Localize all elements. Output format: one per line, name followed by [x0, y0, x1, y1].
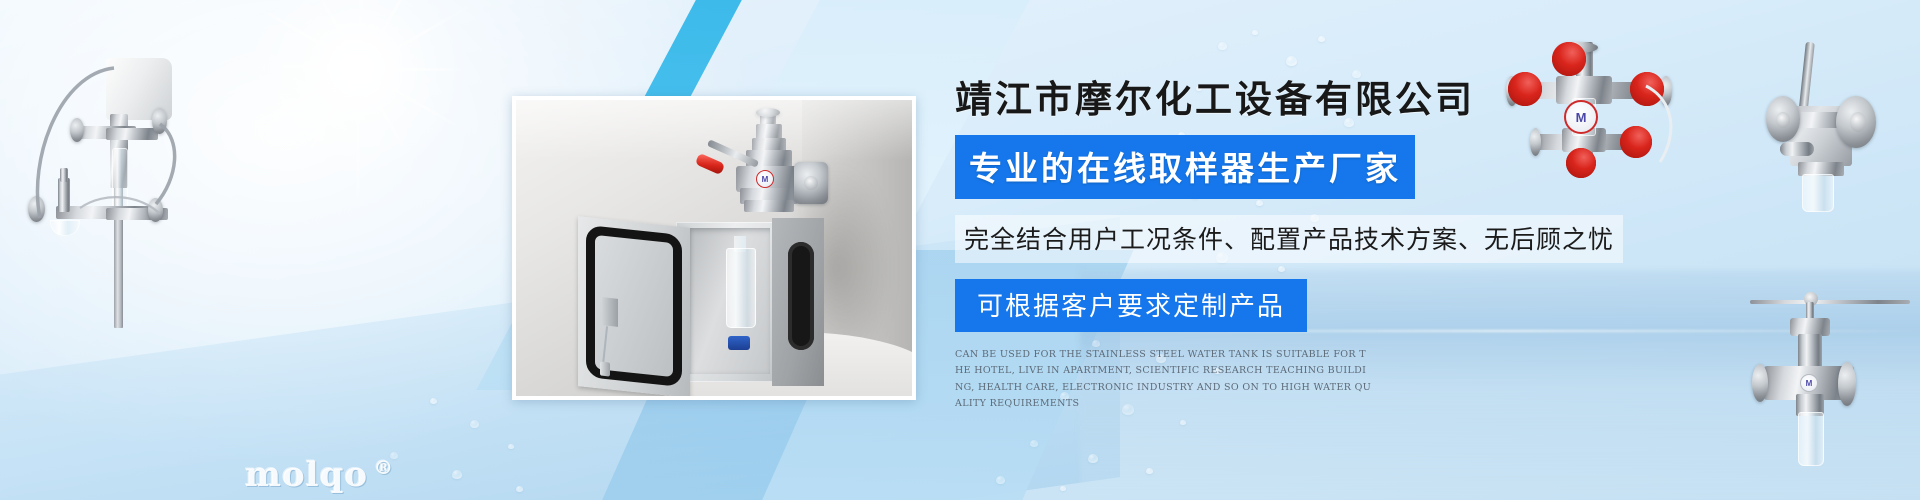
water-droplet — [508, 444, 514, 449]
water-droplet — [1180, 420, 1186, 425]
water-droplet — [1146, 468, 1153, 474]
watermark-logo: molqo® — [245, 455, 394, 495]
banner-text-block: 靖江市摩尔化工设备有限公司 专业的在线取样器生产厂家 完全结合用户工况条件、配置… — [955, 78, 1635, 413]
water-droplet — [452, 470, 462, 479]
water-droplet — [1030, 440, 1038, 447]
registered-mark: ® — [374, 457, 394, 479]
english-description: CAN BE USED FOR THE STAINLESS STEEL WATE… — [955, 347, 1373, 414]
sub-tagline: 完全结合用户工况条件、配置产品技术方案、无后顾之忧 — [955, 215, 1623, 263]
promotional-banner: M M — [0, 0, 1920, 500]
water-droplet — [516, 486, 523, 492]
sun-ray — [360, 68, 470, 71]
water-droplet — [470, 420, 479, 428]
water-droplet — [430, 398, 437, 404]
water-droplet — [1218, 42, 1227, 50]
company-name: 靖江市摩尔化工设备有限公司 — [955, 78, 1635, 121]
sun-ray — [357, 68, 360, 218]
water-droplet — [1088, 454, 1098, 463]
water-droplet — [1318, 36, 1325, 42]
water-droplet — [1286, 56, 1297, 66]
water-droplet — [1252, 30, 1258, 35]
left-equipment-illustration — [10, 28, 200, 328]
water-droplet — [996, 476, 1005, 484]
lever-valve-illustration — [1762, 38, 1912, 214]
water-droplet — [1060, 486, 1066, 491]
needle-valve-logo-badge: M — [1800, 374, 1818, 392]
tagline-highlight: 专业的在线取样器生产厂家 — [955, 135, 1415, 199]
customization-highlight: 可根据客户要求定制产品 — [955, 279, 1307, 332]
product-photo: M — [512, 96, 916, 400]
sun-ray — [250, 65, 360, 68]
needle-valve-illustration: M — [1772, 282, 1912, 472]
product-logo-badge: M — [756, 170, 774, 188]
watermark-text: molqo — [245, 455, 368, 495]
